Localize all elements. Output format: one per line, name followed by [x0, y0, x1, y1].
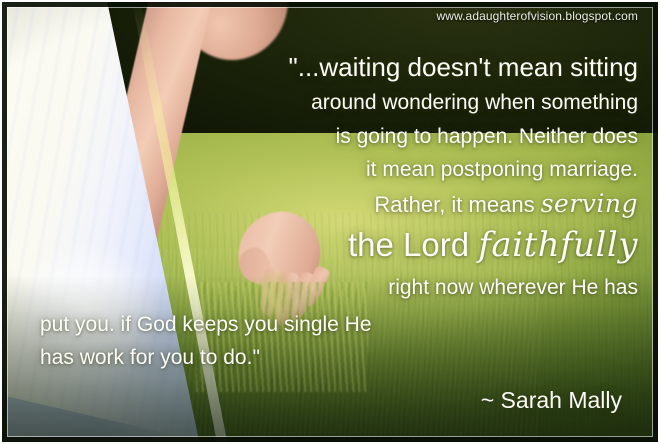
quote-line-6: the Lord faithfully [40, 222, 638, 268]
quote-line-9: has work for you to do." [40, 341, 638, 374]
quote-line-6-emphasis: faithfully [478, 225, 638, 265]
quote-line-5-emphasis: serving [541, 189, 638, 218]
quote-line-8: put you. if God keeps you single He [40, 308, 638, 341]
quote-image-canvas: www.adaughterofvision.blogspot.com "...w… [0, 0, 660, 444]
quote-line-6-text: the Lord [348, 226, 478, 263]
quote-line-3: is going to happen. Neither does [40, 120, 638, 153]
quote-line-2: around wondering when something [40, 86, 638, 120]
quote-line-7: right now wherever He has [40, 268, 638, 308]
quote-line-5: Rather, it means serving [40, 186, 638, 222]
quote-line-4: it mean postponing marriage. [40, 153, 638, 186]
quote-line-5-text: Rather, it means [374, 192, 540, 217]
quote-block: "...waiting doesn't mean sitting around … [40, 48, 638, 426]
watermark-url: www.adaughterofvision.blogspot.com [436, 9, 638, 23]
quote-attribution: ~ Sarah Mally [40, 374, 638, 426]
quote-line-1: "...waiting doesn't mean sitting [40, 48, 638, 86]
